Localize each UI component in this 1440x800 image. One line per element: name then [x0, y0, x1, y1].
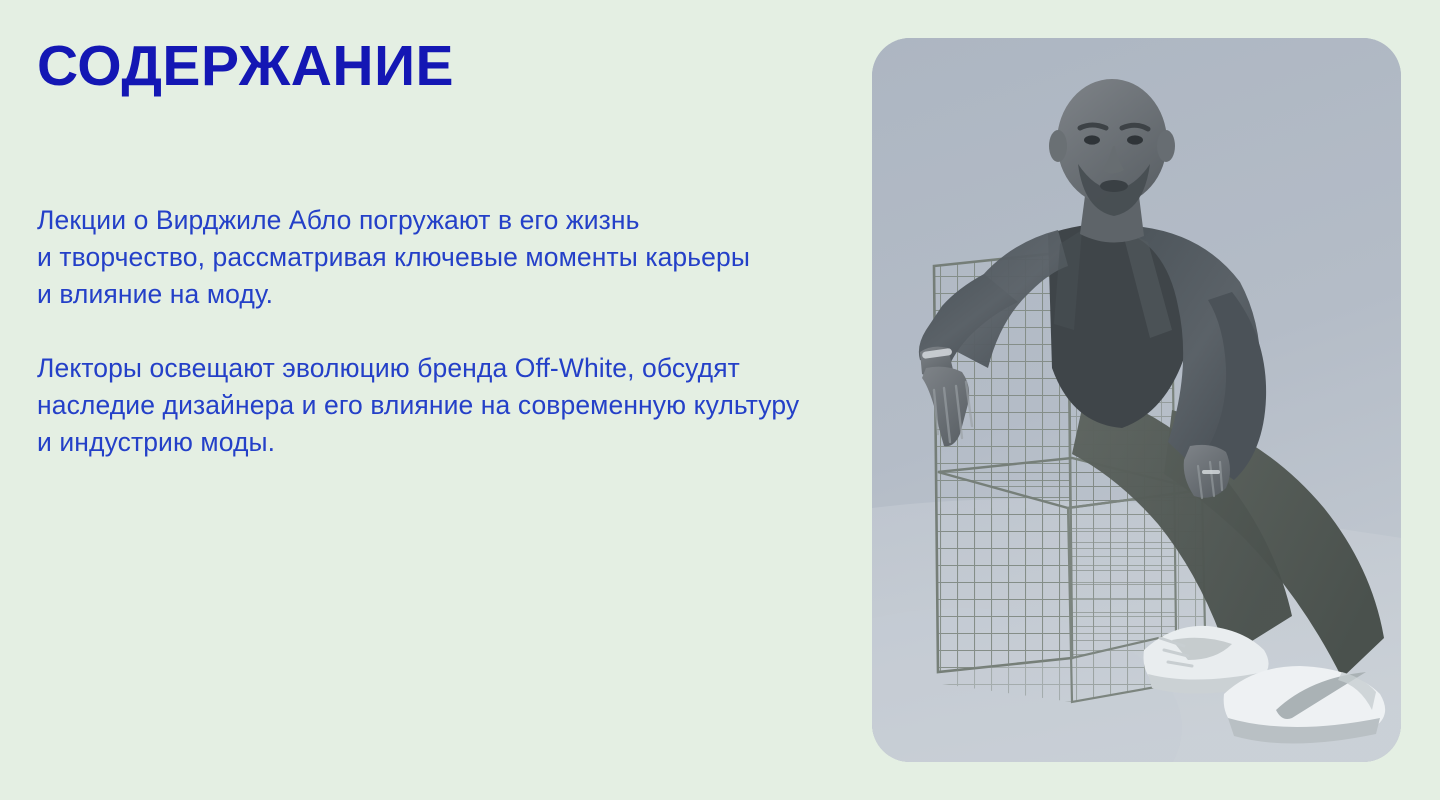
- paragraph-1: Лекции о Вирджиле Абло погружают в его ж…: [37, 202, 857, 313]
- photo-panel: [872, 38, 1401, 762]
- paragraph-1-line-1: Лекции о Вирджиле Абло погружают в его ж…: [37, 202, 857, 239]
- slide-root: СОДЕРЖАНИЕ Лекции о Вирджиле Абло погруж…: [0, 0, 1440, 800]
- paragraph-1-line-2: и творчество, рассматривая ключевые моме…: [37, 239, 857, 276]
- paragraph-2-line-2: наследие дизайнера и его влияние на совр…: [37, 387, 857, 424]
- body-copy: Лекции о Вирджиле Абло погружают в его ж…: [37, 202, 857, 461]
- page-title: СОДЕРЖАНИЕ: [37, 38, 857, 95]
- paragraph-1-line-3: и влияние на моду.: [37, 276, 857, 313]
- portrait-photo: [872, 38, 1401, 762]
- paragraph-2: Лекторы освещают эволюцию бренда Off-Whi…: [37, 350, 857, 461]
- paragraph-2-line-3: и индустрию моды.: [37, 424, 857, 461]
- paragraph-2-line-1: Лекторы освещают эволюцию бренда Off-Whi…: [37, 350, 857, 387]
- text-column: СОДЕРЖАНИЕ Лекции о Вирджиле Абло погруж…: [37, 38, 857, 461]
